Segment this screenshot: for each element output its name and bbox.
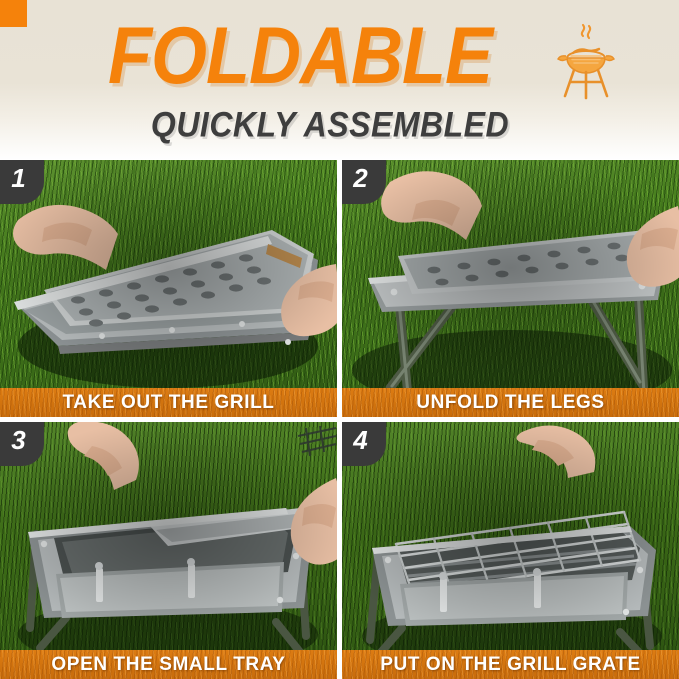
step-badge-4: 4 [342, 422, 386, 466]
step-3-photo [0, 422, 337, 679]
step-badge-1: 1 [0, 160, 44, 204]
step-panel-3[interactable]: 3 OPEN THE SMALL TRAY [0, 422, 337, 679]
step-caption-3: OPEN THE SMALL TRAY [0, 650, 337, 679]
step-2-photo [342, 160, 679, 417]
step-4-photo [342, 422, 679, 679]
step-caption-1: TAKE OUT THE GRILL [0, 388, 337, 417]
bbq-kettle-grill-icon [555, 20, 617, 100]
infographic-page: FOLDABLE QUICKLY ASSEMBLED [0, 0, 679, 679]
step-badge-2: 2 [342, 160, 386, 204]
step-caption-4: PUT ON THE GRILL GRATE [342, 650, 679, 679]
step-caption-2-text: UNFOLD THE LEGS [416, 392, 604, 414]
page-subtitle: QUICKLY ASSEMBLED [0, 107, 660, 142]
page-title: FOLDABLE [0, 16, 600, 97]
header-banner: FOLDABLE QUICKLY ASSEMBLED [0, 0, 679, 160]
photo-vignette [342, 160, 679, 417]
step-1-photo [0, 160, 337, 417]
photo-vignette [0, 422, 337, 679]
step-panel-4[interactable]: 4 PUT ON THE GRILL GRATE [342, 422, 679, 679]
step-caption-1-text: TAKE OUT THE GRILL [62, 392, 274, 414]
step-panel-2[interactable]: 2 UNFOLD THE LEGS [342, 160, 679, 417]
step-caption-2: UNFOLD THE LEGS [342, 388, 679, 417]
steps-grid: 1 TAKE OUT THE GRILL [0, 160, 679, 679]
photo-vignette [342, 422, 679, 679]
step-panel-1[interactable]: 1 TAKE OUT THE GRILL [0, 160, 337, 417]
step-caption-4-text: PUT ON THE GRILL GRATE [380, 654, 641, 676]
step-caption-3-text: OPEN THE SMALL TRAY [51, 654, 285, 676]
photo-vignette [0, 160, 337, 417]
step-badge-3: 3 [0, 422, 44, 466]
